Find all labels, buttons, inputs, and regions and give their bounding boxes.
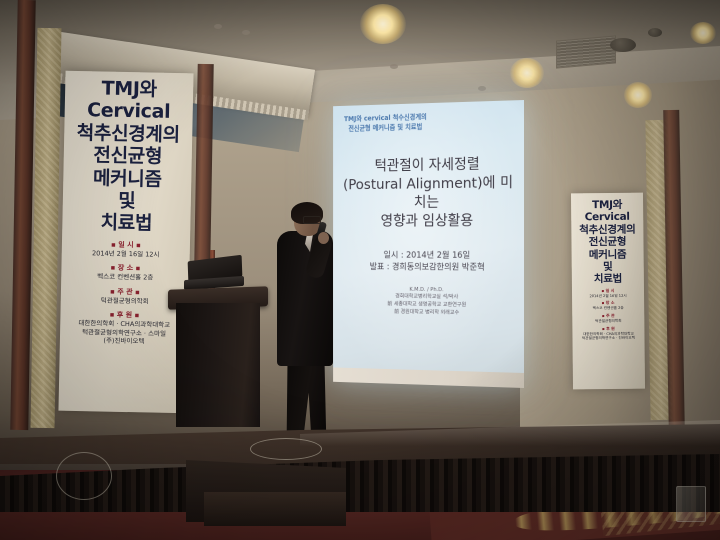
photo-scene: TMJ와 Cervical 척추신경계의 전신균형 메커니즘 및 치료법 ▪ 일… — [0, 0, 720, 540]
presentation-slide: TMJ와 cervical 척수신경계의 전신균형 메커니즘 및 치료법 턱관절… — [333, 100, 524, 388]
banner-right-section-line: 턱관절균형의학연구소 · 진바이오텍 — [582, 336, 635, 341]
bullet-icon: ▪ — [134, 311, 139, 319]
ceiling-downlight — [624, 82, 652, 108]
projection-screen: TMJ와 cervical 척수신경계의 전신균형 메커니즘 및 치료법 턱관절… — [333, 100, 524, 388]
sprinkler-head — [390, 64, 398, 69]
slide-header: TMJ와 cervical 척수신경계의 전신균형 메커니즘 및 치료법 — [344, 113, 427, 134]
bullet-icon: ▪ — [110, 311, 115, 319]
banner-right: TMJ와 Cervical 척추신경계의 전신균형 메커니즘 및 치료법 ▪ 일… — [571, 193, 645, 390]
slide-credentials: K.M.D. / Ph.D. 경희대학교병리학교실 석/박사 前 세종대학교 생… — [387, 286, 466, 318]
ceiling-speaker-dome — [648, 28, 662, 37]
banner-left-section-line: 벡스코 컨벤션홀 2층 — [97, 273, 153, 283]
bullet-icon: ▪ — [135, 264, 140, 272]
ceiling-downlight — [510, 58, 544, 88]
banner-left-section-line: (주)진바이오텍 — [103, 337, 144, 346]
bullet-icon: ▪ — [111, 241, 116, 249]
eyeglasses-icon — [303, 216, 321, 224]
floor-cable — [56, 452, 112, 500]
banner-right-section-line: 2014년 2월 16일 12시 — [589, 293, 626, 298]
ceiling-downlight — [360, 4, 406, 44]
banner-left-section-line: 턱관절균형의학회 — [101, 296, 149, 305]
banner-right-section-line: 턱관절균형의학회 — [595, 319, 622, 324]
bullet-icon: ▪ — [110, 287, 115, 295]
drinking-glass — [676, 486, 706, 522]
sprinkler-head — [478, 86, 486, 91]
banner-right-section-line: 벡스코 컨벤션홀 2층 — [593, 306, 624, 311]
banner-left-section-line: 2014년 2월 16일 12시 — [92, 249, 160, 259]
banner-left-section-label: ▪ 주 관 ▪ — [110, 286, 140, 297]
sprinkler-head — [242, 30, 250, 35]
slide-meta: 일시 : 2014년 2월 16일 발표 : 경희동의보감한의원 박준혁 — [370, 249, 485, 274]
bullet-icon: ▪ — [602, 300, 605, 305]
bullet-icon: ▪ — [111, 264, 116, 272]
banner-left-section-label: ▪ 일 시 ▪ — [111, 240, 141, 251]
ceiling-downlight — [690, 22, 716, 44]
slide-title: 턱관절이 자세정렬 (Postural Alignment)에 미치는 영향과 … — [340, 155, 516, 232]
bullet-icon: ▪ — [602, 313, 605, 318]
bullet-icon: ▪ — [136, 241, 141, 249]
ceiling-speaker-dome — [610, 38, 636, 52]
banner-left: TMJ와 Cervical 척추신경계의 전신균형 메커니즘 및 치료법 ▪ 일… — [58, 71, 193, 414]
bullet-icon: ▪ — [602, 326, 605, 331]
stage-step-lower — [204, 492, 346, 526]
bullet-icon: ▪ — [135, 288, 140, 296]
sprinkler-head — [214, 24, 222, 29]
podium — [176, 303, 260, 427]
banner-left-title: TMJ와 Cervical 척추신경계의 전신균형 메커니즘 및 치료법 — [75, 77, 181, 236]
hvac-vent — [556, 35, 616, 68]
bullet-icon: ▪ — [602, 288, 605, 293]
floor-cable — [250, 438, 322, 460]
speaker-hand — [318, 232, 329, 244]
banner-right-title: TMJ와 Cervical 척추신경계의 전신균형 메커니즘 및 치료법 — [579, 199, 636, 286]
